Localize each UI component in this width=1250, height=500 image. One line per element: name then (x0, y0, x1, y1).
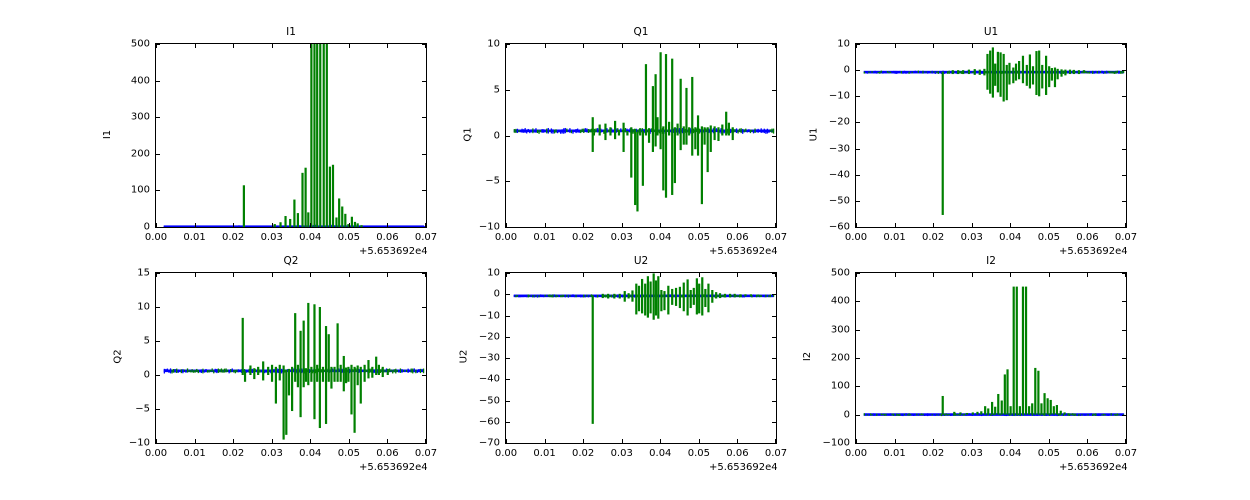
xtick-mark-top (387, 273, 388, 277)
xtick-mark (775, 223, 776, 227)
xtick-mark-top (1125, 273, 1126, 277)
xtick-mark-top (272, 273, 273, 277)
axes-frame (505, 272, 777, 444)
subplot-i2: I2−10001002003004005000.000.010.020.030.… (855, 272, 1127, 444)
ytick-mark (156, 375, 160, 376)
xtick-mark (660, 223, 661, 227)
xtick-label: 0.05 (1038, 232, 1060, 243)
axes-frame (855, 272, 1127, 444)
ytick-label: 400 (810, 296, 850, 307)
xtick-mark (895, 439, 896, 443)
xtick-label: 0.06 (376, 232, 398, 243)
xtick-label: 0.05 (1038, 448, 1060, 459)
ytick-mark-right (772, 358, 776, 359)
xtick-mark (545, 439, 546, 443)
xtick-mark (1125, 223, 1126, 227)
ytick-mark-right (772, 316, 776, 317)
ytick-mark (156, 190, 160, 191)
xtick-mark (425, 223, 426, 227)
ytick-mark-right (1122, 301, 1126, 302)
ytick-mark-right (422, 409, 426, 410)
ytick-mark-right (1122, 201, 1126, 202)
x-axis-offset-label: +5.653692e4 (1059, 462, 1128, 473)
xtick-label: 0.00 (495, 232, 517, 243)
xtick-mark-top (1010, 273, 1011, 277)
ytick-label: 500 (110, 39, 150, 50)
xtick-label: 0.04 (299, 232, 321, 243)
ytick-label: −40 (810, 169, 850, 180)
xtick-mark (933, 223, 934, 227)
xtick-label: 0.00 (845, 448, 867, 459)
ytick-label: 300 (810, 324, 850, 335)
xtick-mark-top (660, 44, 661, 48)
ytick-label: 5 (460, 84, 500, 95)
xtick-label: 0.03 (261, 448, 283, 459)
subplot-u2: U2−70−60−50−40−30−20−100100.000.010.020.… (505, 272, 777, 444)
ytick-mark (506, 227, 510, 228)
ytick-mark-right (1122, 96, 1126, 97)
axes-frame (155, 272, 427, 444)
xtick-mark-top (272, 44, 273, 48)
ytick-mark (506, 401, 510, 402)
ytick-label: −5 (110, 404, 150, 415)
ytick-label: −50 (460, 395, 500, 406)
xtick-mark (583, 223, 584, 227)
ytick-mark-right (772, 443, 776, 444)
ytick-mark-right (422, 117, 426, 118)
xtick-mark (545, 223, 546, 227)
xtick-label: 0.04 (649, 448, 671, 459)
ytick-label: −20 (460, 331, 500, 342)
ytick-mark (506, 422, 510, 423)
ytick-label: 400 (110, 75, 150, 86)
series-spikes (942, 287, 1070, 415)
ytick-mark (156, 341, 160, 342)
ytick-mark-right (1122, 415, 1126, 416)
ytick-label: 5 (110, 336, 150, 347)
xtick-mark (272, 223, 273, 227)
xtick-label: 0.02 (922, 448, 944, 459)
ytick-mark (856, 96, 860, 97)
axes-frame (155, 43, 427, 228)
series-baseline (864, 413, 1124, 416)
xtick-mark (272, 439, 273, 443)
xtick-mark (933, 439, 934, 443)
xtick-mark (1010, 439, 1011, 443)
xtick-mark (856, 439, 857, 443)
xtick-mark (233, 439, 234, 443)
xtick-mark-top (737, 44, 738, 48)
ytick-mark-right (772, 401, 776, 402)
ytick-mark (156, 154, 160, 155)
xtick-label: 0.03 (611, 448, 633, 459)
ytick-mark-right (422, 81, 426, 82)
xtick-mark (622, 439, 623, 443)
ytick-mark (856, 201, 860, 202)
ytick-mark (506, 443, 510, 444)
xtick-mark-top (737, 273, 738, 277)
xtick-mark (622, 223, 623, 227)
ytick-mark (856, 443, 860, 444)
xtick-label: 0.01 (883, 448, 905, 459)
xtick-mark-top (933, 273, 934, 277)
xtick-mark (156, 439, 157, 443)
xtick-label: 0.06 (1076, 448, 1098, 459)
ytick-mark (506, 90, 510, 91)
ytick-label: 15 (110, 268, 150, 279)
xtick-label: 0.02 (222, 232, 244, 243)
subplot-title: U1 (855, 26, 1127, 38)
plot-data-area (506, 273, 776, 443)
xtick-mark (387, 439, 388, 443)
xtick-mark-top (622, 44, 623, 48)
xtick-label: 0.05 (338, 232, 360, 243)
xtick-mark (233, 223, 234, 227)
ytick-mark-right (422, 443, 426, 444)
ytick-mark (506, 358, 510, 359)
subplot-q1: Q1−10−505100.000.010.020.030.040.050.060… (505, 43, 777, 228)
xtick-mark-top (349, 44, 350, 48)
xtick-mark (506, 223, 507, 227)
ytick-mark (156, 117, 160, 118)
ytick-mark (856, 330, 860, 331)
xtick-label: 0.04 (999, 232, 1021, 243)
ytick-mark (506, 337, 510, 338)
xtick-mark (1087, 223, 1088, 227)
xtick-mark (699, 223, 700, 227)
xtick-label: 0.06 (376, 448, 398, 459)
xtick-mark (387, 223, 388, 227)
xtick-mark (506, 439, 507, 443)
xtick-label: 0.00 (495, 448, 517, 459)
xtick-label: 0.01 (183, 232, 205, 243)
xtick-mark-top (156, 44, 157, 48)
xtick-label: 0.02 (572, 232, 594, 243)
xtick-label: 0.06 (726, 232, 748, 243)
ytick-label: −20 (810, 117, 850, 128)
ytick-mark-right (772, 90, 776, 91)
ytick-label: 100 (110, 185, 150, 196)
y-axis-label: Q2 (113, 349, 124, 363)
series-spikes (243, 44, 363, 227)
xtick-label: 0.05 (338, 448, 360, 459)
xtick-mark-top (1049, 273, 1050, 277)
ytick-label: −30 (810, 143, 850, 154)
xtick-label: 0.07 (1115, 232, 1137, 243)
y-axis-label: U2 (458, 350, 469, 364)
ytick-mark-right (772, 379, 776, 380)
xtick-label: 0.07 (1115, 448, 1137, 459)
ytick-label: 0 (810, 65, 850, 76)
xtick-label: 0.07 (765, 232, 787, 243)
ytick-mark (156, 409, 160, 410)
xtick-mark (895, 223, 896, 227)
xtick-mark-top (349, 273, 350, 277)
ytick-mark (856, 358, 860, 359)
ytick-mark-right (772, 181, 776, 182)
ytick-mark-right (1122, 227, 1126, 228)
xtick-label: 0.01 (533, 232, 555, 243)
xtick-mark-top (856, 273, 857, 277)
ytick-mark (506, 379, 510, 380)
xtick-mark-top (387, 44, 388, 48)
ytick-mark (156, 307, 160, 308)
xtick-mark (349, 223, 350, 227)
xtick-label: 0.02 (222, 448, 244, 459)
ytick-mark (506, 294, 510, 295)
xtick-mark (737, 439, 738, 443)
xtick-mark-top (583, 44, 584, 48)
ytick-mark (856, 415, 860, 416)
plot-data-area (856, 44, 1126, 227)
ytick-label: 10 (810, 39, 850, 50)
xtick-mark-top (195, 273, 196, 277)
subplot-title: U2 (505, 255, 777, 267)
ytick-label: −5 (460, 176, 500, 187)
ytick-label: 10 (110, 302, 150, 313)
xtick-label: 0.04 (649, 232, 671, 243)
ytick-label: −40 (460, 374, 500, 385)
ytick-label: 200 (810, 353, 850, 364)
ytick-mark-right (772, 227, 776, 228)
xtick-mark-top (1087, 273, 1088, 277)
xtick-mark-top (233, 273, 234, 277)
ytick-mark-right (422, 227, 426, 228)
xtick-mark-top (933, 44, 934, 48)
xtick-label: 0.04 (299, 448, 321, 459)
ytick-mark-right (422, 154, 426, 155)
ytick-label: −10 (460, 222, 500, 233)
xtick-mark (310, 223, 311, 227)
xtick-mark-top (856, 44, 857, 48)
ytick-mark (856, 122, 860, 123)
xtick-mark-top (775, 44, 776, 48)
xtick-mark (195, 223, 196, 227)
xtick-mark-top (425, 44, 426, 48)
xtick-label: 0.04 (999, 448, 1021, 459)
xtick-label: 0.03 (961, 232, 983, 243)
xtick-label: 0.03 (961, 448, 983, 459)
xtick-mark (1049, 439, 1050, 443)
ytick-label: 10 (460, 39, 500, 50)
ytick-mark (506, 136, 510, 137)
xtick-mark-top (895, 273, 896, 277)
xtick-label: 0.07 (415, 448, 437, 459)
xtick-mark-top (506, 44, 507, 48)
ytick-mark-right (772, 422, 776, 423)
subplot-title: Q2 (155, 255, 427, 267)
xtick-mark (972, 223, 973, 227)
ytick-mark (856, 70, 860, 71)
plot-data-area (156, 273, 426, 443)
ytick-mark-right (422, 307, 426, 308)
xtick-label: 0.00 (145, 232, 167, 243)
xtick-mark-top (1087, 44, 1088, 48)
xtick-label: 0.03 (611, 232, 633, 243)
ytick-mark (156, 81, 160, 82)
ytick-mark-right (1122, 122, 1126, 123)
ytick-label: −60 (460, 416, 500, 427)
xtick-mark (1049, 223, 1050, 227)
axes-frame (505, 43, 777, 228)
xtick-mark-top (699, 273, 700, 277)
xtick-mark-top (425, 273, 426, 277)
xtick-label: 0.00 (145, 448, 167, 459)
subplot-title: I2 (855, 255, 1127, 267)
ytick-label: −10 (110, 438, 150, 449)
ytick-mark (856, 227, 860, 228)
xtick-label: 0.06 (726, 448, 748, 459)
x-axis-offset-label: +5.653692e4 (709, 462, 778, 473)
xtick-mark (425, 439, 426, 443)
xtick-label: 0.02 (922, 232, 944, 243)
xtick-label: 0.02 (572, 448, 594, 459)
matplotlib-figure: I101002003004005000.000.010.020.030.040.… (0, 0, 1250, 500)
xtick-label: 0.01 (533, 448, 555, 459)
ytick-mark-right (1122, 175, 1126, 176)
ytick-label: 300 (110, 112, 150, 123)
ytick-mark-right (422, 375, 426, 376)
xtick-mark-top (699, 44, 700, 48)
xtick-mark (972, 439, 973, 443)
ytick-label: 200 (110, 148, 150, 159)
y-axis-label: Q1 (463, 127, 474, 141)
ytick-mark-right (1122, 443, 1126, 444)
ytick-mark-right (772, 337, 776, 338)
xtick-mark-top (972, 44, 973, 48)
ytick-mark (856, 301, 860, 302)
xtick-mark (349, 439, 350, 443)
xtick-mark-top (545, 273, 546, 277)
ytick-mark-right (1122, 70, 1126, 71)
xtick-mark-top (622, 273, 623, 277)
ytick-mark-right (1122, 330, 1126, 331)
xtick-mark (856, 223, 857, 227)
ytick-mark-right (772, 294, 776, 295)
y-axis-label: U1 (808, 127, 819, 141)
y-axis-label: I1 (102, 129, 113, 138)
ytick-label: 100 (810, 381, 850, 392)
xtick-mark (1010, 223, 1011, 227)
xtick-mark (156, 223, 157, 227)
xtick-mark-top (895, 44, 896, 48)
ytick-mark (856, 386, 860, 387)
subplot-title: Q1 (505, 26, 777, 38)
xtick-label: 0.06 (1076, 232, 1098, 243)
xtick-mark (699, 439, 700, 443)
ytick-mark-right (422, 190, 426, 191)
ytick-label: 0 (110, 222, 150, 233)
ytick-label: −50 (810, 195, 850, 206)
ytick-mark-right (1122, 386, 1126, 387)
xtick-label: 0.01 (883, 232, 905, 243)
xtick-mark-top (1049, 44, 1050, 48)
xtick-label: 0.07 (765, 448, 787, 459)
ytick-label: 10 (460, 268, 500, 279)
x-axis-offset-label: +5.653692e4 (359, 462, 428, 473)
xtick-mark-top (972, 273, 973, 277)
ytick-mark (156, 443, 160, 444)
ytick-mark (506, 316, 510, 317)
xtick-mark-top (1010, 44, 1011, 48)
xtick-mark (583, 439, 584, 443)
ytick-mark-right (1122, 358, 1126, 359)
ytick-label: −70 (460, 438, 500, 449)
ytick-label: 500 (810, 268, 850, 279)
ytick-label: −10 (460, 310, 500, 321)
xtick-mark (660, 439, 661, 443)
ytick-mark (156, 227, 160, 228)
xtick-label: 0.03 (261, 232, 283, 243)
xtick-label: 0.07 (415, 232, 437, 243)
ytick-mark (856, 149, 860, 150)
xtick-mark-top (195, 44, 196, 48)
xtick-mark (1087, 439, 1088, 443)
plot-data-area (156, 44, 426, 227)
subplot-u1: U1−60−50−40−30−20−100100.000.010.020.030… (855, 43, 1127, 228)
subplot-i1: I101002003004005000.000.010.020.030.040.… (155, 43, 427, 228)
ytick-label: −100 (810, 438, 850, 449)
series-baseline (164, 368, 425, 373)
xtick-mark (737, 223, 738, 227)
xtick-mark (1125, 439, 1126, 443)
xtick-mark-top (1125, 44, 1126, 48)
xtick-mark-top (506, 273, 507, 277)
xtick-mark-top (583, 273, 584, 277)
xtick-mark-top (775, 273, 776, 277)
y-axis-label: I2 (802, 352, 813, 361)
xtick-mark-top (156, 273, 157, 277)
xtick-mark (310, 439, 311, 443)
subplot-q2: Q2−10−50510150.000.010.020.030.040.050.0… (155, 272, 427, 444)
ytick-mark-right (422, 341, 426, 342)
xtick-mark (195, 439, 196, 443)
plot-data-area (856, 273, 1126, 443)
xtick-label: 0.05 (688, 232, 710, 243)
xtick-mark-top (660, 273, 661, 277)
xtick-mark (775, 439, 776, 443)
xtick-mark-top (310, 273, 311, 277)
xtick-label: 0.00 (845, 232, 867, 243)
xtick-mark-top (233, 44, 234, 48)
xtick-label: 0.05 (688, 448, 710, 459)
xtick-label: 0.01 (183, 448, 205, 459)
xtick-mark-top (545, 44, 546, 48)
xtick-mark-top (310, 44, 311, 48)
ytick-mark-right (772, 136, 776, 137)
axes-frame (855, 43, 1127, 228)
ytick-label: 0 (810, 409, 850, 420)
ytick-mark (506, 181, 510, 182)
ytick-mark (856, 175, 860, 176)
ytick-label: 0 (460, 289, 500, 300)
ytick-label: −10 (810, 91, 850, 102)
plot-data-area (506, 44, 776, 227)
ytick-label: −60 (810, 222, 850, 233)
ytick-mark-right (1122, 149, 1126, 150)
ytick-label: 0 (110, 370, 150, 381)
subplot-title: I1 (155, 26, 427, 38)
